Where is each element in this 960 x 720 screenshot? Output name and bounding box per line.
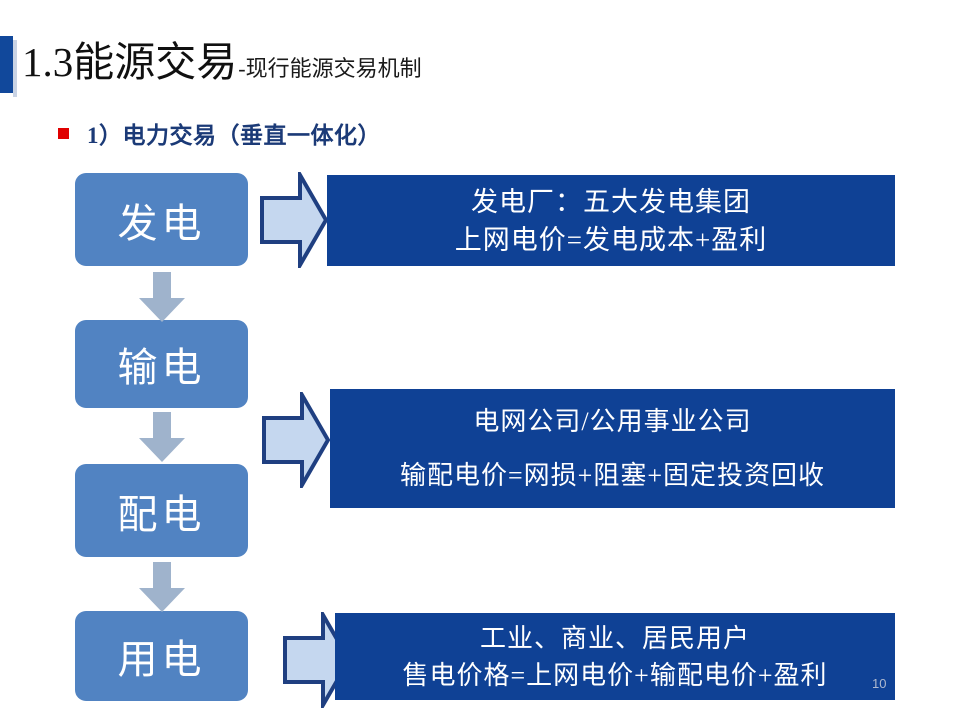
arrow-down-icon: [139, 412, 185, 462]
page-title-subtitle: -现行能源交易机制: [238, 55, 421, 83]
info-panel-line: 发电厂：五大发电集团: [471, 183, 751, 221]
arrow-down-icon: [139, 562, 185, 612]
title-accent-bar: [0, 36, 13, 93]
info-panel-generation: 发电厂：五大发电集团 上网电价=发电成本+盈利: [327, 175, 895, 266]
info-panel-grid: 电网公司/公用事业公司 输配电价=网损+阻塞+固定投资回收: [330, 389, 895, 508]
flow-stage-transmission[interactable]: 输电: [75, 320, 248, 408]
info-panel-line: 工业、商业、居民用户: [480, 620, 750, 657]
info-panel-line: 售电价格=上网电价+输配电价+盈利: [403, 657, 828, 694]
flow-stage-generation[interactable]: 发电: [75, 173, 248, 266]
arrow-right-icon: [262, 392, 330, 488]
slide-number: 10: [872, 676, 886, 691]
page-title: 1.3能源交易 -现行能源交易机制: [22, 37, 422, 87]
info-panel-line: 电网公司/公用事业公司: [473, 395, 751, 449]
section-bullet-label: 1）电力交易（垂直一体化）: [87, 116, 381, 150]
info-panel-line: 输配电价=网损+阻塞+固定投资回收: [400, 449, 825, 503]
flow-stage-consumption[interactable]: 用电: [75, 611, 248, 701]
info-panel-line: 上网电价=发电成本+盈利: [455, 221, 767, 259]
title-accent-shadow: [13, 40, 17, 97]
info-panel-consumers: 工业、商业、居民用户 售电价格=上网电价+输配电价+盈利: [335, 613, 895, 700]
arrow-right-icon: [260, 172, 328, 268]
flow-stage-distribution[interactable]: 配电: [75, 464, 248, 557]
slide-canvas: 1.3能源交易 -现行能源交易机制 1）电力交易（垂直一体化） 发电 输电 配电…: [0, 0, 960, 720]
section-bullet: 1）电力交易（垂直一体化）: [58, 116, 381, 150]
arrow-down-icon: [139, 272, 185, 322]
square-bullet-icon: [58, 128, 69, 139]
page-title-main: 1.3能源交易: [22, 37, 237, 87]
